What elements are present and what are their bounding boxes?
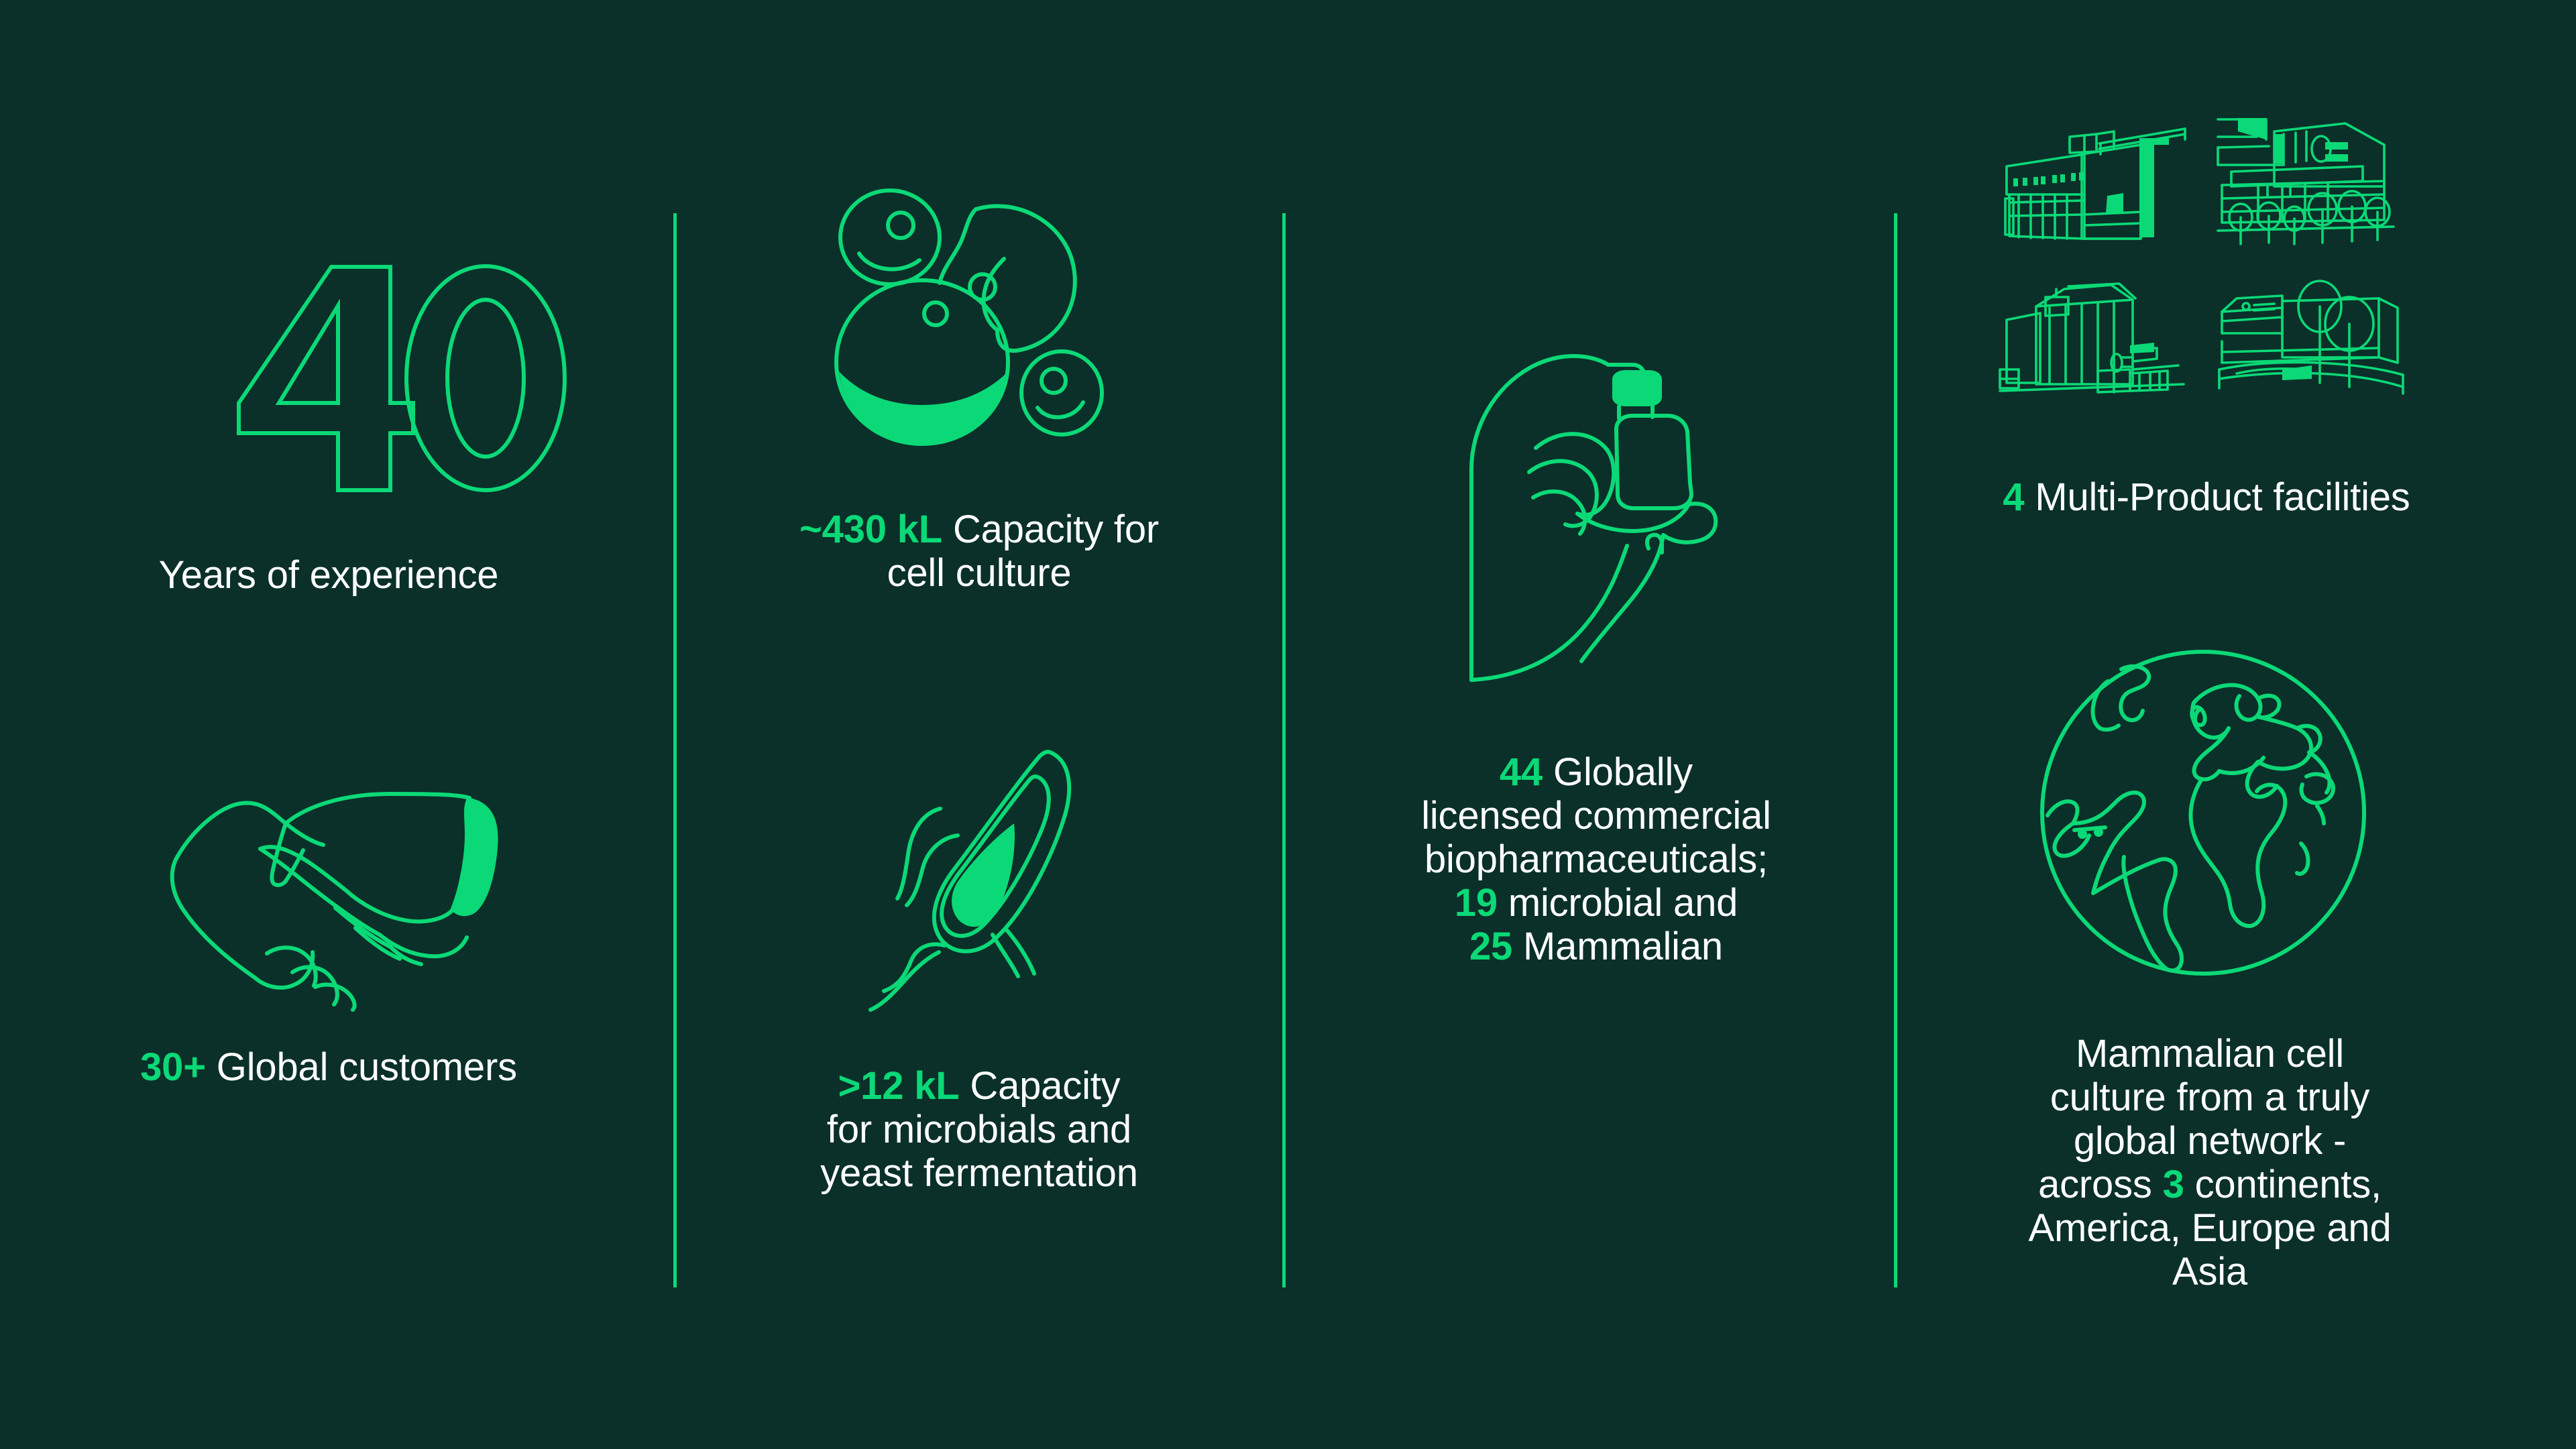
licensed-label-5: Mammalian [1512, 925, 1723, 968]
column-divider-1 [673, 213, 677, 1287]
hand-holding-vial-icon [1447, 335, 1749, 684]
global-network-caption: Mammalian cell culture from a truly glob… [1955, 1033, 2465, 1294]
network-label-6: Asia [2172, 1250, 2247, 1293]
microbial-label-2: for microbials and [827, 1108, 1131, 1151]
global-customers-caption: 30+ Global customers [40, 1046, 617, 1090]
microbial-number: >12 kL [838, 1064, 960, 1108]
column-divider-3 [1894, 213, 1897, 1287]
microbial-capacity-caption: >12 kL Capacity for microbials and yeast… [708, 1065, 1251, 1196]
global-customers-number: 30+ [140, 1045, 206, 1089]
cell-culture-label-2: cell culture [887, 551, 1072, 595]
network-label-4a: across [2038, 1163, 2163, 1206]
licensed-label-2: licensed commercial [1421, 794, 1771, 837]
facility-building-2-icon [2218, 107, 2414, 251]
licensed-label-4: microbial and [1498, 881, 1738, 925]
network-label-1: Mammalian cell [2076, 1032, 2344, 1076]
network-label-2: culture from a truly [2050, 1076, 2369, 1119]
facility-building-3-icon [1999, 269, 2195, 413]
facilities-label: Multi-Product facilities [2024, 475, 2410, 519]
cell-culture-number: ~430 kL [799, 508, 942, 551]
yeast-cells-icon [815, 192, 1110, 460]
cell-culture-label-1: Capacity for [942, 508, 1159, 551]
facility-buildings-grid-icon [1999, 107, 2414, 413]
microbial-count-number: 19 [1455, 881, 1498, 925]
years-of-experience-caption: Years of experience [40, 554, 617, 597]
network-label-5: America, Europe and [2028, 1206, 2391, 1250]
cell-culture-capacity-caption: ~430 kL Capacity for cell culture [708, 508, 1251, 595]
continents-number: 3 [2163, 1163, 2184, 1206]
microbial-label-3: yeast fermentation [820, 1151, 1138, 1195]
microbial-label-1: Capacity [960, 1064, 1121, 1108]
multi-product-facilities-caption: 4 Multi-Product facilities [1931, 476, 2481, 520]
bacterium-icon [838, 730, 1120, 1011]
facilities-number: 4 [2003, 475, 2024, 519]
mammalian-count-number: 25 [1469, 925, 1512, 968]
licensed-label-1: Globally [1543, 750, 1693, 794]
global-customers-label: Global customers [206, 1045, 517, 1089]
infographic-canvas: Years of experience [0, 0, 2576, 1449]
facility-building-4-icon [2218, 269, 2414, 413]
licensed-total-number: 44 [1500, 750, 1543, 794]
outline-number-40-icon [165, 266, 567, 494]
network-label-3: global network - [2074, 1119, 2346, 1163]
globe-icon [2035, 645, 2371, 980]
licensed-biopharmaceuticals-caption: 44 Globally licensed commercial biopharm… [1348, 751, 1844, 969]
handshake-icon [154, 786, 516, 1007]
column-divider-2 [1282, 213, 1286, 1287]
years-of-experience-label: Years of experience [159, 553, 499, 597]
facility-building-1-icon [1999, 107, 2195, 251]
licensed-label-3: biopharmaceuticals; [1424, 837, 1768, 881]
network-label-4b: continents, [2184, 1163, 2382, 1206]
